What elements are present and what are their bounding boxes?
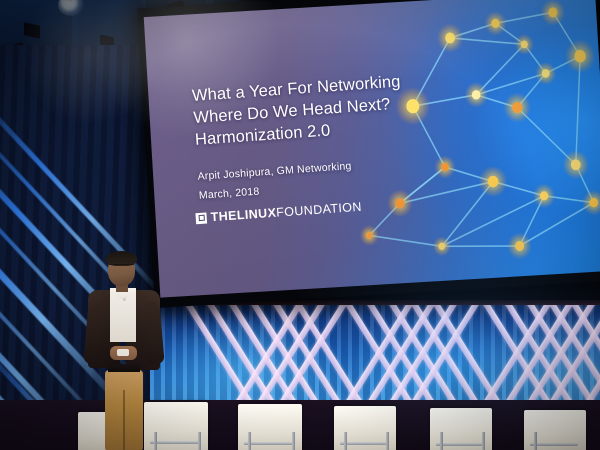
slide-surface: What a Year For Networking Where Do We H… bbox=[144, 0, 600, 298]
chair-leg bbox=[440, 432, 443, 450]
chair-frame-bar bbox=[244, 442, 294, 445]
chair-leg bbox=[292, 432, 295, 450]
logo-linux: LINUX bbox=[236, 206, 276, 223]
speaker-lapel-mic-icon bbox=[123, 298, 126, 301]
chair-frame-bar bbox=[340, 442, 388, 445]
conference-stage-photo: What a Year For Networking Where Do We H… bbox=[0, 0, 600, 450]
chair-leg bbox=[482, 432, 485, 450]
speaker-on-stage bbox=[74, 250, 178, 450]
chair-leg bbox=[344, 432, 347, 450]
logo-the: THE bbox=[210, 208, 237, 224]
stage-backdrop-ribbons bbox=[150, 300, 600, 412]
chair-leg bbox=[534, 432, 537, 450]
chair-frame-bar bbox=[436, 443, 484, 446]
chair-leg bbox=[248, 432, 251, 450]
chair-frame-bar bbox=[530, 443, 578, 446]
speaker-belt bbox=[108, 364, 140, 372]
linux-foundation-mark-icon bbox=[195, 212, 207, 224]
chair-leg bbox=[386, 432, 389, 450]
chair-leg bbox=[198, 432, 201, 450]
speaker-glasses bbox=[109, 264, 134, 270]
speaker-pants-seam bbox=[123, 390, 125, 450]
projection-screen: What a Year For Networking Where Do We H… bbox=[137, 0, 600, 308]
presentation-clicker bbox=[117, 349, 129, 356]
slide-text-block: What a Year For Networking Where Do We H… bbox=[191, 65, 499, 204]
